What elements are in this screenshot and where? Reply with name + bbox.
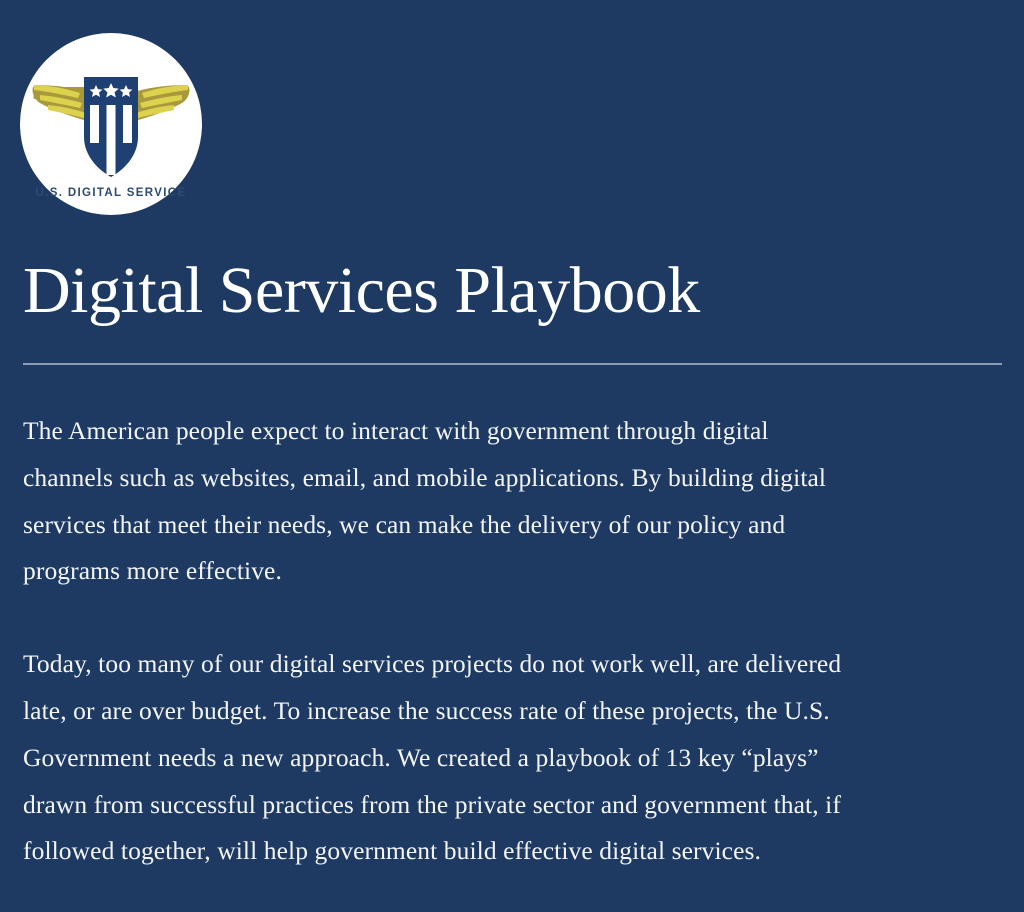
body-paragraph-2: Today, too many of our digital services … — [23, 641, 848, 875]
body-paragraph-1: The American people expect to interact w… — [23, 408, 833, 595]
logo-wordmark: U.S. DIGITAL SERVICE — [36, 187, 187, 199]
page-title: Digital Services Playbook — [23, 258, 700, 324]
logo-emblem-icon: U.S. DIGITAL SERVICE — [20, 33, 202, 215]
document-body: The American people expect to interact w… — [23, 408, 833, 875]
title-divider — [23, 363, 1002, 365]
document-page: U.S. DIGITAL SERVICE Digital Services Pl… — [0, 0, 1024, 912]
us-digital-service-logo: U.S. DIGITAL SERVICE — [20, 33, 202, 215]
